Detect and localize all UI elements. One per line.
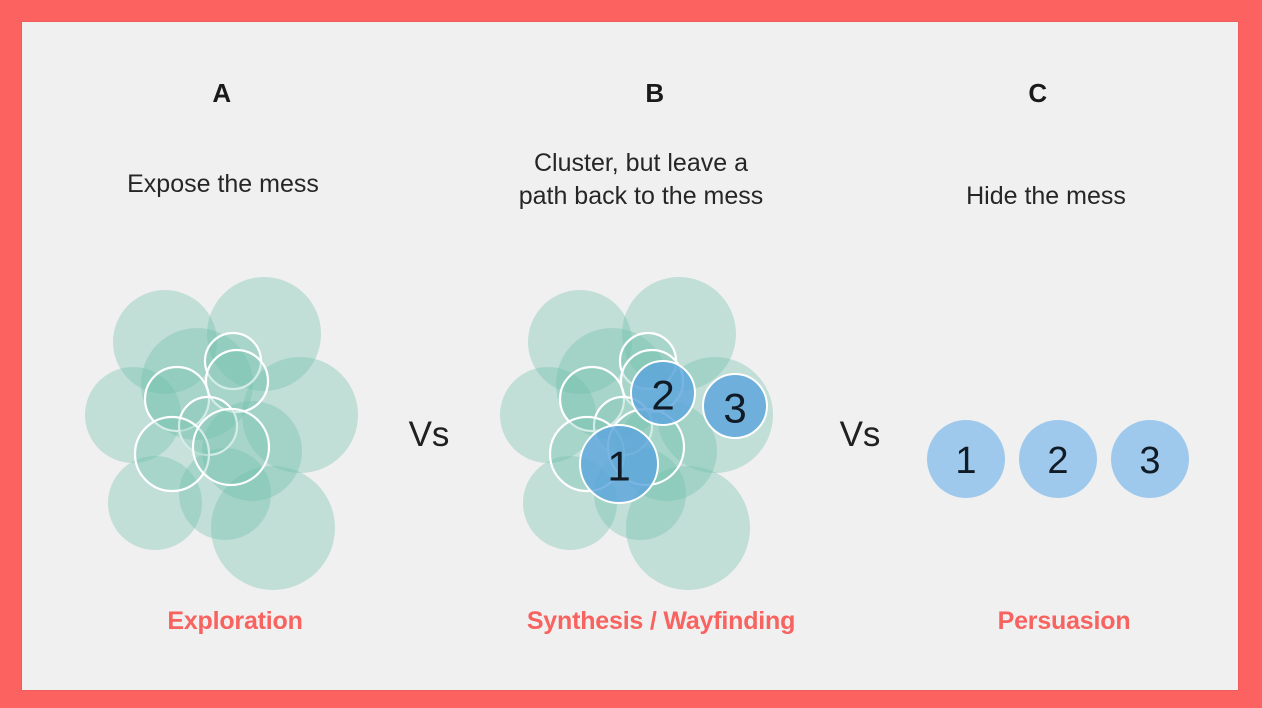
clean-circle-3: 3	[1111, 420, 1189, 498]
column-caption-c: Hide the mess	[846, 180, 1246, 213]
numbered-circles-b: 1 2 3	[497, 272, 827, 622]
separator-vs-2: Vs	[840, 415, 881, 455]
clean-circle-label: 2	[1047, 440, 1068, 482]
mess-cluster-a	[82, 272, 412, 622]
column-letter-b: B	[645, 78, 664, 109]
mess-circle-outlined	[193, 409, 269, 485]
column-footer-c: Persuasion	[998, 607, 1131, 636]
numbered-circle-label: 3	[723, 385, 746, 432]
column-caption-b: Cluster, but leave a path back to the me…	[411, 147, 871, 213]
mess-circle-group-a	[85, 277, 358, 590]
separator-vs-1: Vs	[409, 415, 450, 455]
numbered-circle-label: 2	[651, 372, 674, 419]
numbered-circle-1-b: 1	[580, 425, 658, 503]
numbered-circle-label: 1	[607, 443, 630, 490]
diagram-canvas: A Expose the mess Exploration	[0, 0, 1262, 708]
diagram-inner-panel: A Expose the mess Exploration	[22, 22, 1238, 690]
column-letter-c: C	[1028, 78, 1047, 109]
column-letter-a: A	[212, 78, 231, 109]
column-caption-a: Expose the mess	[13, 168, 433, 201]
numbered-circle-2-b: 2	[631, 361, 695, 425]
clean-circle-2: 2	[1019, 420, 1097, 498]
column-footer-b: Synthesis / Wayfinding	[527, 607, 795, 636]
clean-circle-label: 1	[955, 440, 976, 482]
clean-circle-label: 3	[1139, 440, 1160, 482]
numbered-circle-3-b: 3	[703, 374, 767, 438]
column-footer-a: Exploration	[167, 607, 302, 636]
clean-circle-1: 1	[927, 420, 1005, 498]
clean-row-c: 1 2 3	[920, 392, 1220, 532]
